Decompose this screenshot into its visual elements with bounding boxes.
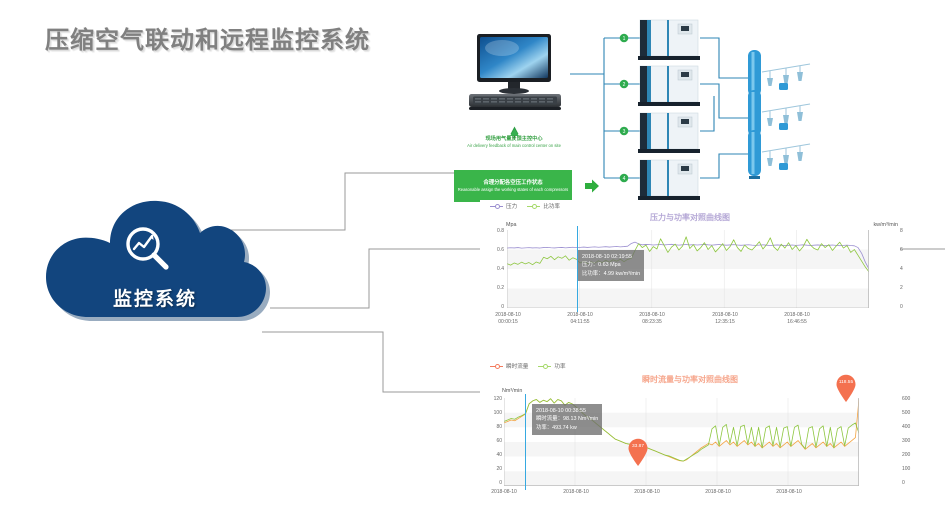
pin-icon: 33.87 (627, 438, 649, 466)
legend-item-pressure[interactable]: 压力 (490, 202, 517, 210)
magnifier-chart-icon (120, 222, 176, 278)
xtick: 2018-08-1004:11:55 (550, 312, 610, 326)
flow-tooltip: 2018-08-10 00:38:55 瞬时流量：98.13 Nm³/min 功… (532, 404, 602, 435)
ytick: 500 (902, 410, 920, 416)
svg-text:4: 4 (623, 176, 626, 182)
pressure-yaxis-left-unit: Mpa (506, 222, 517, 228)
legend-symbol-specific-power (527, 203, 540, 209)
tooltip-row: 瞬时流量：98.13 Nm³/min (536, 415, 598, 423)
ytick: 100 (484, 410, 502, 416)
piping-schematic: 1 2 3 4 (432, 18, 937, 203)
ytick: 600 (902, 396, 920, 402)
legend-label-flow: 瞬时流量 (506, 362, 528, 370)
xtick: 2018-08-10 (617, 489, 677, 496)
xtick: 2018-08-1008:23:35 (622, 312, 682, 326)
legend-label-pressure: 压力 (506, 202, 517, 210)
legend-item-flow[interactable]: 瞬时流量 (490, 362, 528, 370)
legend-item-specific-power[interactable]: 比功率 (527, 202, 560, 210)
legend-symbol-pressure (490, 203, 503, 209)
ytick: 0 (902, 480, 920, 486)
marker-value: 118.55 (835, 380, 857, 385)
tooltip-row: 压力：0.63 Mpa (582, 261, 640, 269)
cloud-label: 监控系统 (40, 284, 270, 311)
ytick: 100 (902, 466, 920, 472)
ytick: 120 (484, 396, 502, 402)
ytick: 0 (900, 304, 918, 310)
compressor-nodes: 1 2 3 4 (620, 34, 629, 183)
ytick: 8 (900, 228, 918, 234)
flow-chart-legend[interactable]: 瞬时流量 功率 (490, 362, 566, 370)
pin-icon: 118.55 (835, 374, 857, 402)
flow-marker-low[interactable]: 33.87 (627, 438, 649, 466)
pressure-chart-legend[interactable]: 压力 比功率 (490, 202, 560, 210)
ytick: 20 (484, 466, 502, 472)
flow-cursor-line (525, 394, 526, 490)
legend-label-specific-power: 比功率 (543, 202, 560, 210)
compressor-unit (638, 20, 700, 200)
tooltip-row: 功率：493.74 kw (536, 424, 598, 432)
ytick: 0 (484, 480, 502, 486)
pressure-plot-area[interactable] (507, 230, 869, 308)
flow-power-chart[interactable]: 瞬时流量 功率 瞬时流量与功率对照曲线图 Nm³/min 120 100 80 … (480, 360, 900, 520)
ytick: 400 (902, 424, 920, 430)
legend-symbol-power (538, 363, 551, 369)
xtick: 2018-08-10 (759, 489, 819, 496)
xtick: 2018-08-1012:35:15 (695, 312, 755, 326)
ytick: 0.8 (486, 228, 504, 234)
ytick: 40 (484, 452, 502, 458)
ytick: 4 (900, 266, 918, 272)
xtick: 2018-08-10 (474, 489, 534, 496)
pressure-chart-title: 压力与功率对照曲线图 (480, 212, 900, 223)
tooltip-row: 比功率：4.99 kw/m³/min (582, 270, 640, 278)
ytick: 300 (902, 438, 920, 444)
ytick: 0.6 (486, 247, 504, 253)
tooltip-timestamp: 2018-08-10 00:38:55 (536, 407, 598, 415)
ytick: 200 (902, 452, 920, 458)
ytick: 0.4 (486, 266, 504, 272)
legend-item-power[interactable]: 功率 (538, 362, 565, 370)
svg-text:3: 3 (623, 129, 626, 135)
legend-label-power: 功率 (554, 362, 565, 370)
flow-marker-high[interactable]: 118.55 (835, 374, 857, 402)
ytick: 0 (486, 304, 504, 310)
ytick: 60 (484, 438, 502, 444)
flow-yaxis-left-unit: Nm³/min (502, 388, 522, 394)
xtick: 2018-08-1016:46:55 (767, 312, 827, 326)
legend-symbol-flow (490, 363, 503, 369)
ytick: 2 (900, 285, 918, 291)
xtick: 2018-08-10 (546, 489, 606, 496)
xtick: 2018-08-10 (688, 489, 748, 496)
tooltip-timestamp: 2018-08-10 02:19:55 (582, 253, 640, 261)
pressure-tooltip: 2018-08-10 02:19:55 压力：0.63 Mpa 比功率：4.99… (578, 250, 644, 281)
pressure-yaxis-right-unit: kw/m³/min (873, 222, 898, 228)
svg-text:2: 2 (623, 82, 626, 88)
ytick: 0.2 (486, 285, 504, 291)
marker-value: 33.87 (627, 444, 649, 449)
ytick: 80 (484, 424, 502, 430)
xtick: 2018-08-1000:00:15 (478, 312, 538, 326)
pressure-power-chart[interactable]: 压力 比功率 压力与功率对照曲线图 Mpa kw/m³/min 0.8 0.6 … (480, 200, 900, 335)
page-title: 压缩空气联动和远程监控系统 (45, 20, 370, 55)
compressed-air-system-diagram: 现场用气量反馈主控中心 Air delivery feedback of mai… (432, 18, 937, 203)
air-tank-group (748, 50, 810, 179)
ytick: 6 (900, 247, 918, 253)
svg-text:1: 1 (623, 36, 626, 42)
slide-canvas: 压缩空气联动和远程监控系统 监控系统 (0, 0, 945, 529)
